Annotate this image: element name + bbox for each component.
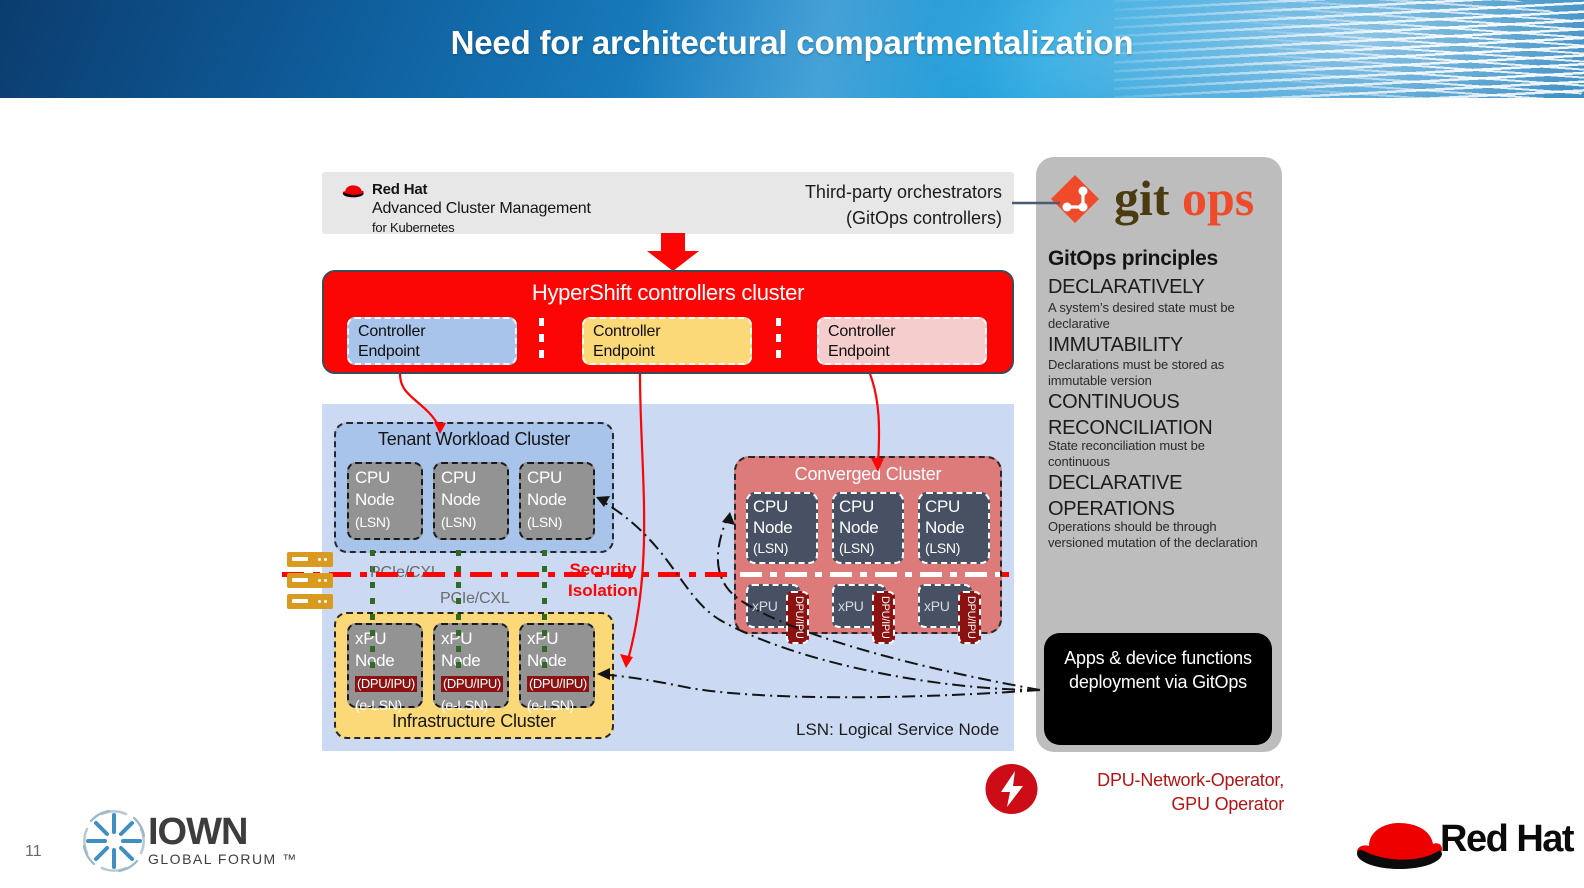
converged-dpu-2[interactable]: DPU/IPU: [872, 591, 895, 644]
controller-endpoint-3[interactable]: Controller Endpoint: [817, 317, 987, 365]
infra-xpu-node-3-line1: xPU: [527, 628, 593, 650]
server-rack-icon: [287, 552, 333, 610]
down-arrow-icon: [645, 233, 701, 271]
gitops-principles-heading: GitOps principles: [1048, 247, 1218, 271]
infra-xpu-node-3[interactable]: xPU Node (DPU/IPU) (e-LSN): [519, 623, 595, 708]
infrastructure-cluster: xPU Node (DPU/IPU) (e-LSN) xPU Node (DPU…: [334, 612, 614, 739]
controller-endpoint-2-line2: Endpoint: [593, 342, 750, 362]
converged-cpu-node-1-sub: (LSN): [753, 538, 816, 559]
dpu-operator-line1: DPU-Network-Operator,: [1040, 768, 1284, 792]
converged-cluster: Converged Cluster CPU Node (LSN) CPU Nod…: [734, 456, 1002, 634]
iown-name: IOWN: [148, 812, 298, 852]
infra-xpu-node-1[interactable]: xPU Node (DPU/IPU) (e-LSN): [347, 623, 423, 708]
converged-cpu-node-2-sub: (LSN): [839, 538, 902, 559]
iown-tagline: GLOBAL FORUM ™: [148, 852, 298, 867]
principle-1-name: DECLARATIVELY: [1048, 275, 1272, 299]
infra-xpu-node-1-line1: xPU: [355, 628, 421, 650]
security-isolation-line2: Isolation: [558, 580, 648, 601]
acm-orchestrator-bar: Red Hat Advanced Cluster Management for …: [322, 172, 1014, 234]
tenant-cpu-node-2[interactable]: CPU Node (LSN): [433, 462, 509, 540]
dpu-operator-caption: DPU-Network-Operator, GPU Operator: [1040, 768, 1284, 816]
converged-internal-divider: [740, 572, 1000, 577]
hypershift-title: HyperShift controllers cluster: [324, 280, 1012, 306]
infra-xpu-node-2[interactable]: xPU Node (DPU/IPU) (e-LSN): [433, 623, 509, 708]
principle-3-desc: State reconciliation must be continuous: [1048, 438, 1264, 470]
pcie-cxl-label-bottom: PCIe/CXL: [440, 590, 510, 608]
lsn-legend: LSN: Logical Service Node: [796, 720, 999, 740]
infrastructure-cluster-title: Infrastructure Cluster: [336, 711, 612, 732]
lightning-bolt-icon: [984, 763, 1039, 815]
tenant-cpu-node-3-sub: (LSN): [527, 511, 593, 533]
infra-xpu-node-2-line1: xPU: [441, 628, 507, 650]
apps-device-functions-box: Apps & device functions deployment via G…: [1044, 633, 1272, 745]
converged-dpu-1-label: DPU/IPU: [793, 596, 805, 639]
controller-endpoint-3-line2: Endpoint: [828, 342, 985, 362]
converged-cpu-node-1-line2: Node: [753, 517, 816, 538]
converged-dpu-3-label: DPU/IPU: [965, 596, 977, 639]
converged-dpu-2-label: DPU/IPU: [879, 596, 891, 639]
tenant-cpu-node-3-line2: Node: [527, 489, 593, 511]
tenant-cpu-node-1-sub: (LSN): [355, 511, 421, 533]
principle-4-name: DECLARATIVE OPERATIONS: [1048, 470, 1272, 522]
red-hat-hat-icon: [340, 182, 366, 199]
page-number: 11: [25, 843, 42, 861]
converged-cpu-node-1[interactable]: CPU Node (LSN): [746, 492, 818, 564]
endpoint-divider-1: [539, 318, 544, 364]
gitops-controllers-label: (GitOps controllers): [846, 208, 1002, 229]
converged-cpu-node-2-line1: CPU: [839, 496, 902, 517]
pcie-link-6: [542, 598, 547, 670]
principle-3-name: CONTINUOUS RECONCILIATION: [1048, 389, 1272, 441]
security-isolation-label: Security Isolation: [558, 559, 648, 601]
infra-xpu-node-2-line2: Node: [441, 650, 507, 672]
converged-cpu-node-3-sub: (LSN): [925, 538, 988, 559]
iown-wordmark: IOWN GLOBAL FORUM ™: [148, 812, 298, 867]
svg-text:ops: ops: [1182, 170, 1254, 226]
gitops-logo-icon: git ops: [1046, 171, 1272, 225]
infra-xpu-node-1-tag: (DPU/IPU): [355, 676, 417, 692]
converged-dpu-1[interactable]: DPU/IPU: [786, 591, 809, 644]
converged-cpu-node-1-line1: CPU: [753, 496, 816, 517]
converged-cpu-node-2[interactable]: CPU Node (LSN): [832, 492, 904, 564]
infra-xpu-node-2-tag: (DPU/IPU): [441, 676, 503, 692]
tenant-cpu-node-2-line2: Node: [441, 489, 507, 511]
hypershift-controllers-cluster: HyperShift controllers cluster Controlle…: [322, 270, 1014, 374]
converged-cluster-title: Converged Cluster: [736, 464, 1000, 485]
acm-product-line2: for Kubernetes: [372, 220, 454, 235]
controller-endpoint-1[interactable]: Controller Endpoint: [347, 317, 517, 365]
infra-xpu-node-3-tag: (DPU/IPU): [527, 676, 589, 692]
principle-1-desc: A system’s desired state must be declara…: [1048, 300, 1264, 332]
tenant-cluster-title: Tenant Workload Cluster: [336, 429, 612, 450]
dpu-operator-line2: GPU Operator: [1040, 792, 1284, 816]
converged-cpu-node-3-line2: Node: [925, 517, 988, 538]
controller-endpoint-1-line1: Controller: [358, 322, 515, 342]
tenant-cpu-node-1-line1: CPU: [355, 467, 421, 489]
acm-product-line1: Advanced Cluster Management: [372, 200, 591, 218]
acm-brand-label: Red Hat: [372, 181, 427, 198]
converged-cpu-node-3-line1: CPU: [925, 496, 988, 517]
controller-endpoint-1-line2: Endpoint: [358, 342, 515, 362]
principle-2-desc: Declarations must be stored as immutable…: [1048, 357, 1264, 389]
third-party-orchestrators-label: Third-party orchestrators: [805, 182, 1002, 203]
tenant-cpu-node-3-line1: CPU: [527, 467, 593, 489]
tenant-cpu-node-1-line2: Node: [355, 489, 421, 511]
converged-dpu-3[interactable]: DPU/IPU: [958, 591, 981, 644]
infra-xpu-node-1-line2: Node: [355, 650, 421, 672]
endpoint-divider-2: [776, 318, 781, 364]
red-hat-wordmark: Red Hat: [1440, 818, 1573, 861]
tenant-cpu-node-1[interactable]: CPU Node (LSN): [347, 462, 423, 540]
tenant-workload-cluster: Tenant Workload Cluster CPU Node (LSN) C…: [334, 422, 614, 553]
controller-endpoint-2-line1: Controller: [593, 322, 750, 342]
tenant-cpu-node-2-line1: CPU: [441, 467, 507, 489]
controller-endpoint-2[interactable]: Controller Endpoint: [582, 317, 752, 365]
svg-text:git: git: [1114, 170, 1170, 226]
pcie-link-4: [370, 598, 375, 670]
infrastructure-diagram-panel: Tenant Workload Cluster CPU Node (LSN) C…: [322, 404, 1014, 751]
tenant-cpu-node-2-sub: (LSN): [441, 511, 507, 533]
converged-cpu-node-3[interactable]: CPU Node (LSN): [918, 492, 990, 564]
converged-cpu-node-2-line2: Node: [839, 517, 902, 538]
tenant-cpu-node-3[interactable]: CPU Node (LSN): [519, 462, 595, 540]
security-isolation-line1: Security: [558, 559, 648, 580]
infra-xpu-node-3-line2: Node: [527, 650, 593, 672]
pcie-link-5: [456, 598, 461, 670]
controller-endpoint-3-line1: Controller: [828, 322, 985, 342]
page-title: Need for architectural compartmentalizat…: [0, 24, 1584, 62]
principle-2-name: IMMUTABILITY: [1048, 333, 1272, 357]
slide-canvas: Need for architectural compartmentalizat…: [0, 0, 1584, 888]
principle-4-desc: Operations should be through versioned m…: [1048, 519, 1264, 551]
